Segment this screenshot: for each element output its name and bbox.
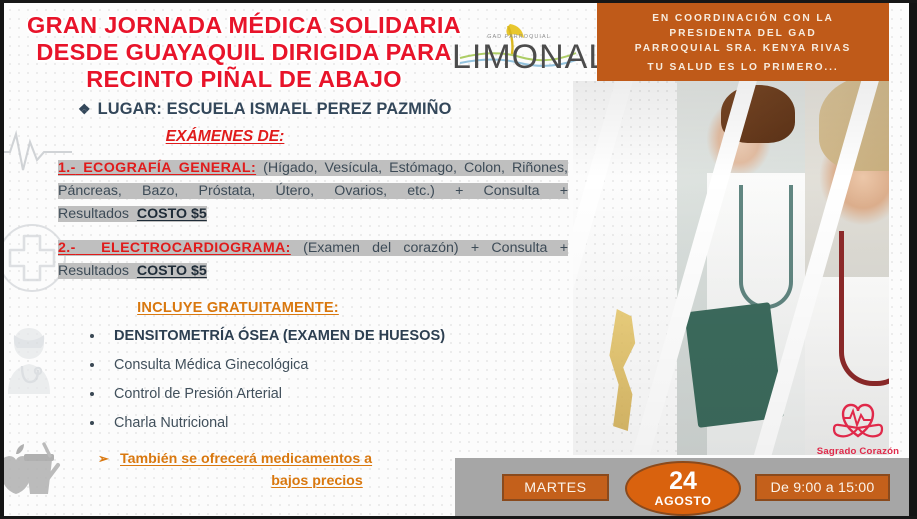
- day-number: 24: [669, 469, 697, 493]
- diamond-bullet-icon: ❖: [78, 101, 91, 117]
- month-name: AGOSTO: [654, 494, 711, 508]
- coordination-line-1: EN COORDINACIÓN CON LA: [652, 11, 834, 26]
- list-item: DENSITOMETRÍA ÓSEA (EXAMEN DE HUESOS): [80, 327, 568, 345]
- exam-name: ELECTROCARDIOGRAMA:: [101, 240, 291, 256]
- exam-cost: COSTO $5: [137, 263, 207, 279]
- poster-title: GRAN JORNADA MÉDICA SOLIDARIA DESDE GUAY…: [18, 12, 470, 93]
- coordination-line-2: PRESIDENTA DEL GAD: [669, 26, 816, 41]
- venue-text: LUGAR: ESCUELA ISMAEL PEREZ PAZMIÑO: [98, 100, 452, 118]
- exam-cost: COSTO $5: [137, 206, 207, 222]
- schedule-chip: De 9:00 a 15:00: [755, 474, 890, 501]
- logo-sagrado-corazon: Sagrado Corazón: [808, 398, 908, 456]
- includes-heading: INCLUYE GRATUITAMENTE:: [58, 300, 568, 316]
- frame-edge-right: [909, 0, 917, 519]
- exam-item-ecografia: 1.- ECOGRAFÍA GENERAL: (Hígado, Vesícula…: [58, 157, 568, 226]
- content-body: ❖LUGAR: ESCUELA ISMAEL PEREZ PAZMIÑO EXÁ…: [58, 100, 568, 492]
- poster-canvas: GRAN JORNADA MÉDICA SOLIDARIA DESDE GUAY…: [0, 0, 917, 519]
- venue-line: ❖LUGAR: ESCUELA ISMAEL PEREZ PAZMIÑO: [58, 100, 568, 119]
- weekday-chip: MARTES: [502, 474, 609, 501]
- free-services-list: DENSITOMETRÍA ÓSEA (EXAMEN DE HUESOS) Co…: [58, 327, 568, 432]
- exam-number: 1.-: [58, 160, 76, 176]
- coordination-line-3: PARROQUIAL SRA. KENYA RIVAS: [635, 41, 851, 56]
- heart-hands-icon: [808, 398, 908, 440]
- sagrado-corazon-name: Sagrado Corazón: [808, 446, 908, 457]
- list-item: Charla Nutricional: [80, 414, 568, 432]
- frame-edge-top: [0, 0, 917, 3]
- logo-gad-limonal: GAD PARROQUIAL LIMONAL: [452, 16, 580, 84]
- arrow-bullet-icon: ➢: [98, 448, 109, 470]
- exam-item-electrocardiograma: 2.- ELECTROCARDIOGRAMA: (Examen del cora…: [58, 237, 568, 283]
- coordination-banner: EN COORDINACIÓN CON LA PRESIDENTA DEL GA…: [597, 3, 889, 81]
- title-line-2: DESDE GUAYAQUIL DIRIGIDA PARA: [18, 39, 470, 66]
- exam-number: 2.-: [58, 240, 76, 256]
- date-bar: MARTES 24 AGOSTO De 9:00 a 15:00: [455, 458, 909, 516]
- date-ellipse: 24 AGOSTO: [625, 461, 741, 516]
- list-item: Control de Presión Arterial: [80, 385, 568, 403]
- title-line-1: GRAN JORNADA MÉDICA SOLIDARIA: [18, 12, 470, 39]
- list-item: Consulta Médica Ginecológica: [80, 356, 568, 374]
- frame-edge-left: [0, 0, 4, 519]
- title-line-3: RECINTO PIÑAL DE ABAJO: [18, 66, 470, 93]
- coordination-tagline: TU SALUD ES LO PRIMERO...: [647, 60, 838, 75]
- medicines-note-line-2: bajos precios: [271, 473, 362, 489]
- exams-heading: EXÁMENES DE:: [58, 128, 568, 146]
- limonal-wordmark: LIMONAL: [452, 38, 580, 77]
- exam-name: ECOGRAFÍA GENERAL:: [83, 160, 256, 176]
